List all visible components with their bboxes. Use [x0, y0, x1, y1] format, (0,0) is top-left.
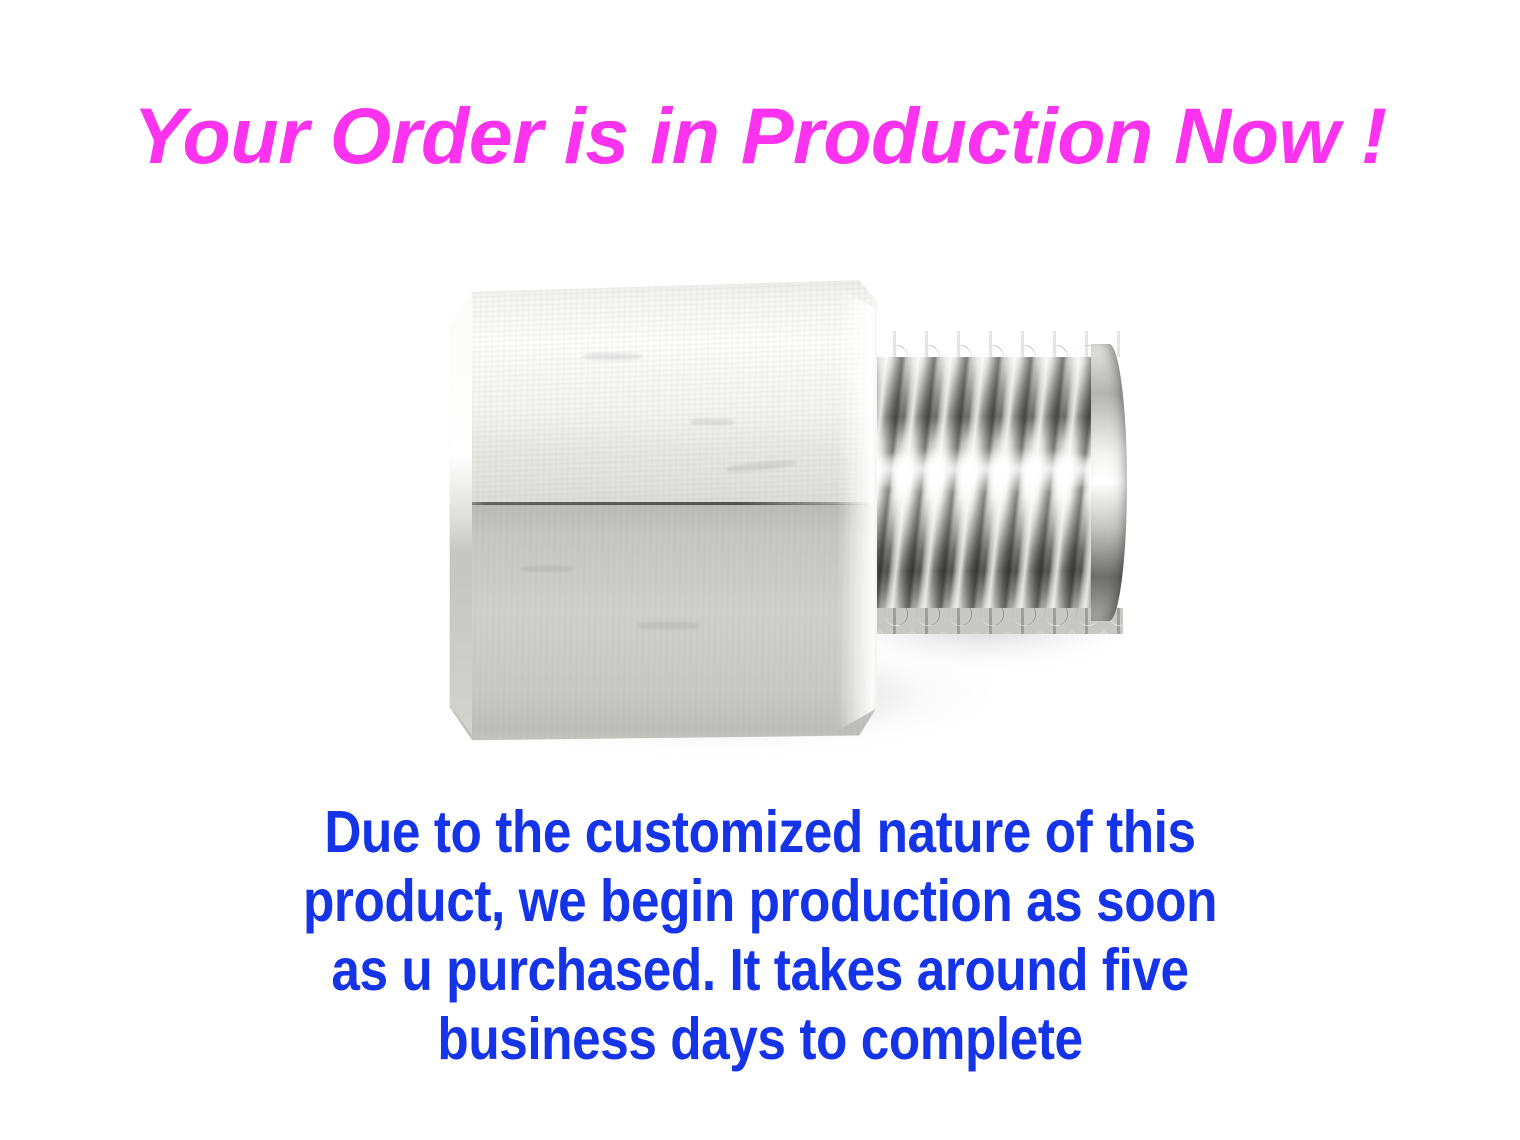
- machining-striations-fine: [441, 282, 868, 499]
- notice-line: business days to complete: [99, 1005, 1421, 1074]
- thread-specular-highlight: [852, 448, 1113, 494]
- male-threaded-nipple: [848, 340, 1123, 625]
- hex-nut-body: [432, 273, 877, 745]
- notice-line: as u purchased. It takes around five: [99, 936, 1421, 1005]
- thread-crests-bottom: [848, 608, 1123, 634]
- thread-end-cap: [1091, 344, 1127, 621]
- hex-facet-edge: [445, 502, 868, 505]
- surface-scuff: [583, 353, 641, 360]
- production-notice: Due to the customized nature of this pro…: [99, 798, 1421, 1074]
- hex-left-chamfer: [432, 282, 472, 735]
- surface-scuff: [690, 419, 734, 425]
- hex-faces: [432, 273, 877, 745]
- notice-line: product, we begin production as soon: [99, 867, 1421, 936]
- page-title: Your Order is in Production Now !: [0, 96, 1520, 175]
- product-photo: [380, 240, 1180, 800]
- notice-line: Due to the customized nature of this: [99, 798, 1421, 867]
- thread-crests-top: [848, 331, 1123, 357]
- surface-scuff: [637, 622, 699, 629]
- promo-image-canvas: Your Order is in Production Now !: [0, 0, 1520, 1140]
- surface-scuff: [521, 566, 573, 572]
